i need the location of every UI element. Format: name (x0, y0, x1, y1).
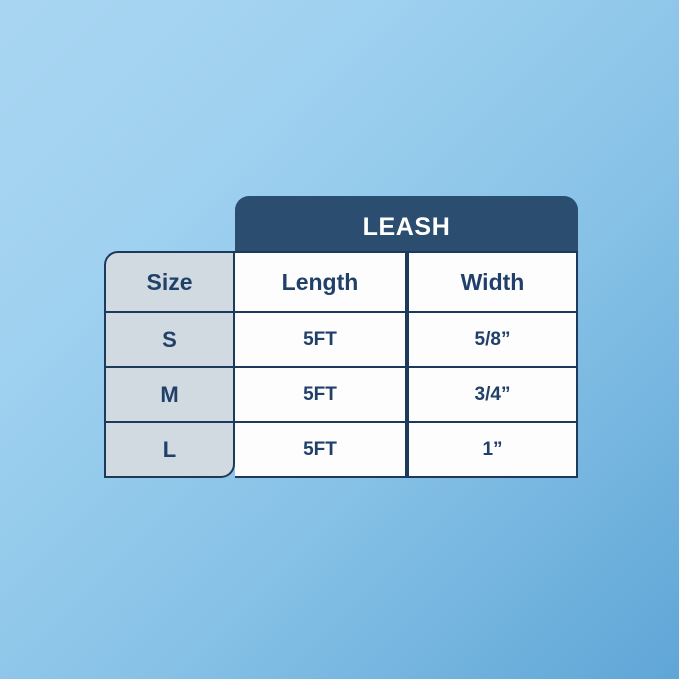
size-chart: LEASH Size S M L Length 5FT 5FT 5FT Widt… (104, 196, 578, 478)
table-row: L (104, 423, 235, 478)
size-table: Size S M L Length 5FT 5FT 5FT Width 5/8”… (104, 251, 578, 478)
chart-title-banner: LEASH (235, 196, 578, 257)
table-row: 5/8” (407, 313, 578, 368)
column-length: Length 5FT 5FT 5FT (235, 251, 407, 478)
table-row: 5FT (235, 313, 407, 368)
column-size: Size S M L (104, 251, 235, 478)
table-row: 1” (407, 423, 578, 478)
column-header-size: Size (104, 251, 235, 313)
table-row: 5FT (235, 368, 407, 423)
table-row: M (104, 368, 235, 423)
table-row: 5FT (235, 423, 407, 478)
column-header-width: Width (407, 251, 578, 313)
table-row: S (104, 313, 235, 368)
chart-title: LEASH (235, 213, 578, 242)
table-row: 3/4” (407, 368, 578, 423)
column-width: Width 5/8” 3/4” 1” (407, 251, 578, 478)
column-header-length: Length (235, 251, 407, 313)
